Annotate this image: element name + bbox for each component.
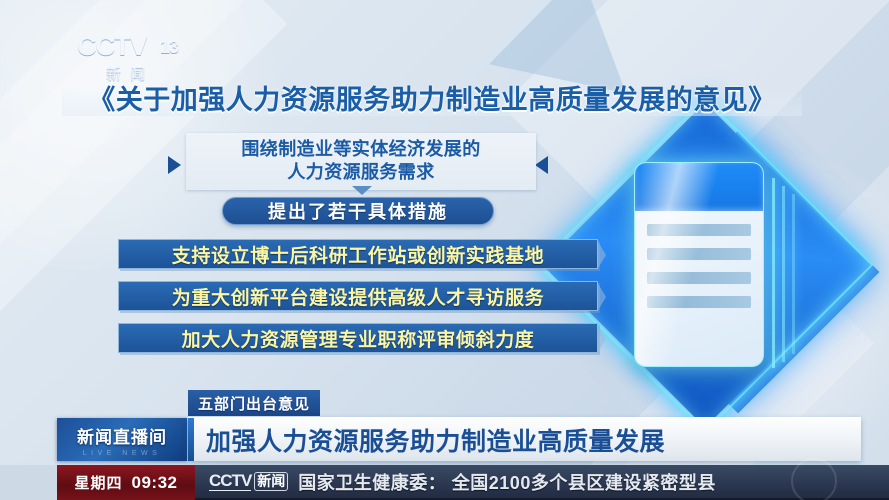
headline-bar: 加强人力资源服务助力制造业高质量发展	[188, 417, 861, 461]
channel-logo-number: 13	[155, 36, 183, 58]
ticker-logo-news: 新闻	[254, 472, 288, 491]
page-title: 《关于加强人力资源服务助力制造业高质量发展的意见》	[62, 86, 802, 116]
kicker-bar: 五部门出台意见	[188, 390, 320, 416]
summary-pill: 提出了若干具体措施	[222, 197, 494, 225]
ticker-logo-cctv: CCTV	[209, 472, 251, 491]
channel-logo-cctv: CCTV 13	[60, 33, 200, 60]
measure-bar-label: 加大人力资源管理专业职称评审倾斜力度	[182, 325, 535, 352]
program-name-badge: 新闻直播间 LIVE NEWS	[57, 418, 187, 461]
summary-pill-label: 提出了若干具体措施	[268, 198, 448, 224]
triangle-left-icon	[168, 156, 181, 174]
channel-logo: CCTV 13 新闻	[60, 33, 200, 84]
channel-logo-subtitle: 新闻	[60, 63, 200, 84]
document-graphic	[560, 120, 889, 420]
info-box: 围绕制造业等实体经济发展的 人力资源服务需求	[186, 133, 536, 190]
background-triangle	[489, 0, 649, 93]
ticker-left-pad	[0, 465, 57, 500]
ticker-watermark	[791, 465, 837, 500]
news-ticker: 星期四 09:32 CCTV 新闻 国家卫生健康委： 全国2100多个县区建设紧…	[0, 465, 889, 500]
light-streak	[792, 194, 795, 354]
lower-third: 新闻直播间 LIVE NEWS 五部门出台意见 加强人力资源服务助力制造业高质量…	[0, 390, 889, 465]
measure-bar-label: 支持设立博士后科研工作站或创新实践基地	[172, 241, 544, 268]
kicker-label: 五部门出台意见	[198, 393, 310, 414]
measure-bar-label: 为重大创新平台建设提供高级人才寻访服务	[172, 283, 544, 310]
measure-bar: 为重大创新平台建设提供高级人才寻访服务	[118, 281, 598, 311]
document-icon	[634, 162, 764, 367]
headline-text: 加强人力资源服务助力制造业高质量发展	[194, 422, 665, 458]
channel-logo-wordmark: CCTV	[77, 31, 147, 61]
clock-time: 09:32	[132, 473, 178, 493]
ticker-headline: 国家卫生健康委： 全国2100多个县区建设紧密型县	[298, 469, 716, 495]
weekday-label: 星期四	[75, 472, 123, 493]
measures-list: 支持设立博士后科研工作站或创新实践基地 为重大创新平台建设提供高级人才寻访服务 …	[118, 239, 598, 365]
info-box-line-2: 人力资源服务需求	[196, 161, 526, 184]
light-streak	[772, 178, 775, 368]
chevron-down-icon	[352, 186, 372, 195]
ticker-body: CCTV 新闻 国家卫生健康委： 全国2100多个县区建设紧密型县	[195, 465, 889, 500]
triangle-right-icon	[535, 156, 548, 174]
measure-bar: 支持设立博士后科研工作站或创新实践基地	[118, 239, 598, 269]
program-name-cn: 新闻直播间	[77, 423, 167, 448]
light-streak	[782, 186, 785, 362]
ticker-cctv-news-logo: CCTV 新闻	[209, 472, 288, 491]
info-box-line-1: 围绕制造业等实体经济发展的	[196, 138, 526, 161]
broadcast-screen: CCTV 13 新闻 《关于加强人力资源服务助力制造业高质量发展的意见》 围绕制…	[0, 0, 889, 500]
program-name-en: LIVE NEWS	[83, 450, 162, 457]
measure-bar: 加大人力资源管理专业职称评审倾斜力度	[118, 323, 598, 353]
clock-box: 星期四 09:32	[57, 465, 195, 500]
